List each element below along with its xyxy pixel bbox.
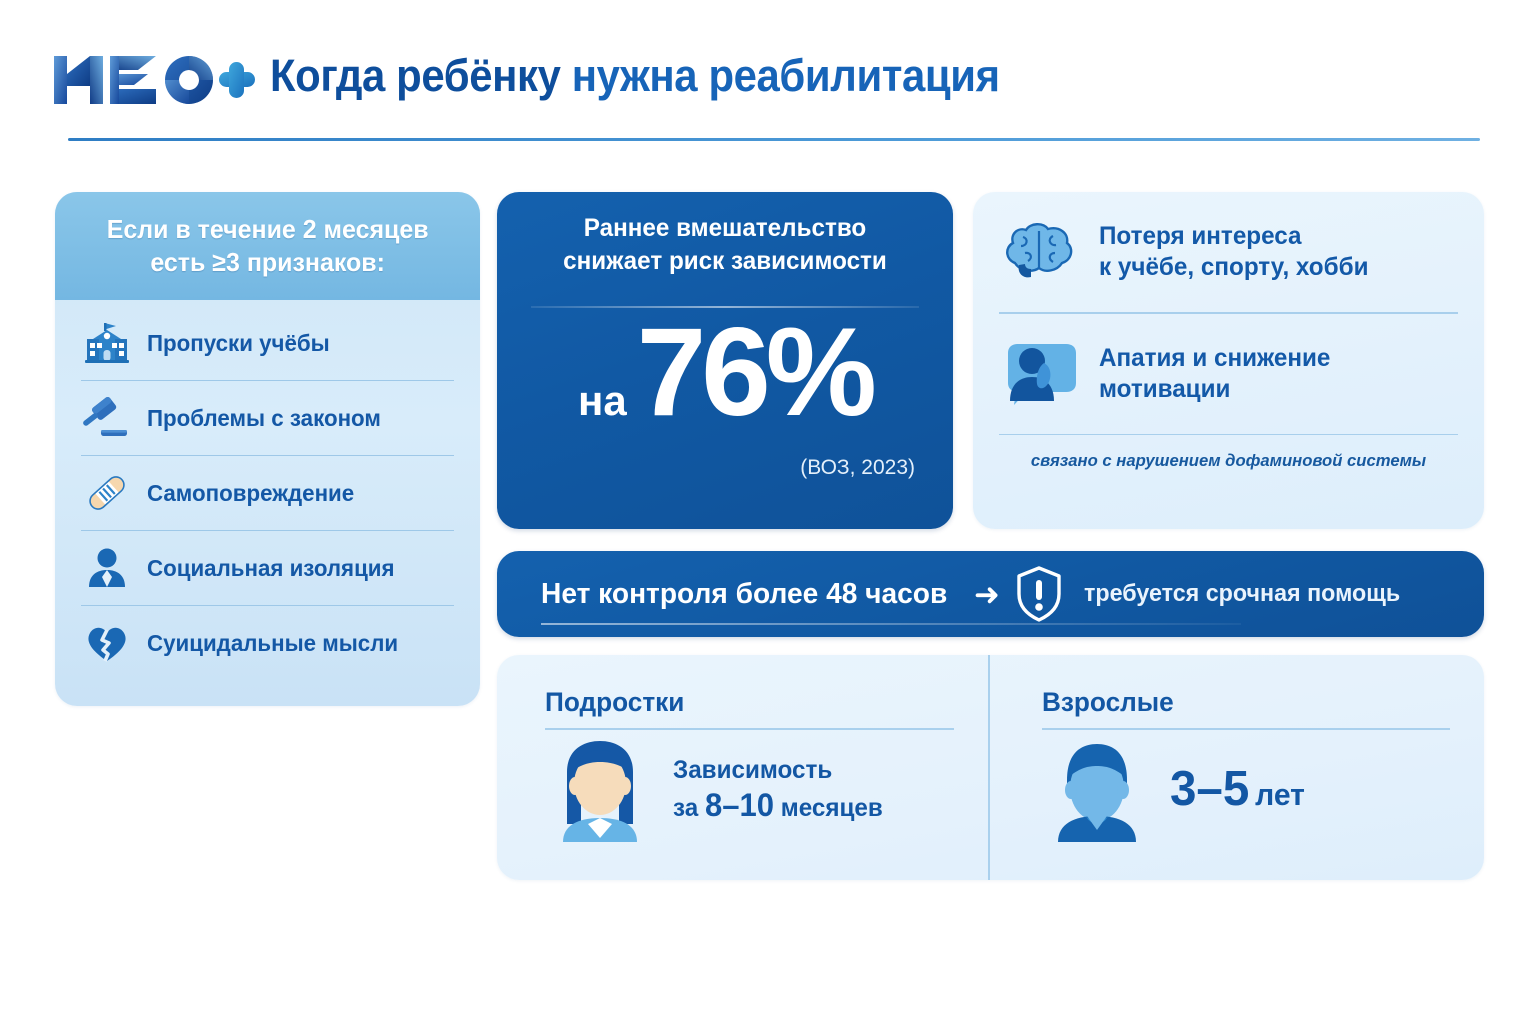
timeline-adults-value: 3–5 bbox=[1170, 762, 1249, 816]
list-item-label: Самоповреждение bbox=[147, 480, 354, 507]
page-title-bold: Когда ребёнку bbox=[270, 50, 560, 101]
stat-heading-line2: снижает риск зависимости bbox=[504, 245, 946, 278]
list-item[interactable]: Суицидальные мысли bbox=[81, 606, 454, 680]
apathy-panel: Потеря интереса к учёбе, спорту, хобби А… bbox=[973, 192, 1484, 529]
arrow-right-icon: ➜ bbox=[974, 579, 1000, 610]
timeline-adults-column: Взрослые 3–5лет bbox=[988, 655, 1485, 880]
list-item[interactable]: Самоповреждение bbox=[81, 456, 454, 531]
apathy-row-line2: к учёбе, спорту, хобби bbox=[1099, 252, 1368, 283]
list-item-text: Апатия и снижение мотивации bbox=[1099, 343, 1330, 405]
timeline-teens-prefix: за bbox=[673, 794, 698, 822]
signs-heading-line2: есть ≥3 признаков: bbox=[107, 246, 429, 279]
list-item-text: Потеря интереса к учёбе, спорту, хобби bbox=[1099, 221, 1368, 283]
teen-girl-avatar bbox=[545, 738, 655, 842]
signs-list: Пропуски учёбы Проблемы с законом bbox=[55, 300, 480, 690]
alert-bar: Нет контроля более 48 часов ➜ требуется … bbox=[497, 551, 1484, 637]
brain-icon bbox=[999, 216, 1081, 288]
person-icon bbox=[81, 545, 133, 591]
timeline-teens-unit: месяцев bbox=[781, 794, 883, 822]
alert-tail-text: требуется срочная помощь bbox=[1084, 580, 1400, 608]
timeline-adults-title: Взрослые bbox=[1042, 687, 1438, 718]
gavel-icon bbox=[81, 395, 133, 441]
broken-heart-icon bbox=[81, 620, 133, 666]
stat-panel: Раннее вмешательство снижает риск зависи… bbox=[497, 192, 953, 529]
list-item-label: Суицидальные мысли bbox=[147, 630, 398, 657]
timeline-panel: Подростки Зависимость bbox=[497, 655, 1484, 880]
neo-plus-logo bbox=[52, 52, 257, 108]
apathy-person-icon bbox=[999, 338, 1081, 410]
list-item[interactable]: Социальная изоляция bbox=[81, 531, 454, 606]
list-item[interactable]: Проблемы с законом bbox=[81, 381, 454, 456]
page-title-rest: нужна реабилитация bbox=[572, 50, 1000, 101]
timeline-teens-title: Подростки bbox=[545, 687, 941, 718]
list-item[interactable]: Апатия и снижение мотивации bbox=[973, 314, 1484, 434]
alert-main-text: Нет контроля более 48 часов bbox=[541, 578, 947, 611]
infographic-root: Когда ребёнку нужна реабилитация Если в … bbox=[0, 0, 1536, 1024]
list-item[interactable]: Потеря интереса к учёбе, спорту, хобби bbox=[973, 192, 1484, 312]
timeline-teens-text: Зависимость за 8–10 месяцев bbox=[673, 754, 883, 826]
page-title: Когда ребёнку нужна реабилитация bbox=[270, 46, 1000, 106]
list-item-label: Социальная изоляция bbox=[147, 555, 395, 582]
timeline-adults-value-group: 3–5лет bbox=[1170, 765, 1305, 814]
stat-value-group: на 76% bbox=[497, 310, 953, 435]
timeline-adults-divider bbox=[1042, 728, 1451, 730]
school-building-icon bbox=[81, 320, 133, 366]
bandage-icon bbox=[81, 470, 133, 516]
signs-panel-header: Если в течение 2 месяцев есть ≥3 признак… bbox=[55, 192, 480, 300]
timeline-adults-unit: лет bbox=[1255, 777, 1305, 812]
timeline-teens-column: Подростки Зависимость bbox=[497, 655, 988, 880]
signs-heading-line1: Если в течение 2 месяцев bbox=[107, 213, 429, 246]
timeline-teens-divider bbox=[545, 728, 954, 730]
signs-panel: Если в течение 2 месяцев есть ≥3 признак… bbox=[55, 192, 480, 706]
header: Когда ребёнку нужна реабилитация bbox=[52, 46, 1484, 146]
list-item[interactable]: Пропуски учёбы bbox=[81, 306, 454, 381]
shield-exclamation-icon bbox=[1012, 564, 1066, 624]
adult-man-avatar bbox=[1042, 738, 1152, 842]
apathy-row-line1: Потеря интереса bbox=[1099, 221, 1368, 252]
timeline-teens-line1: Зависимость bbox=[673, 754, 883, 787]
stat-source: (ВОЗ, 2023) bbox=[800, 456, 915, 480]
stat-heading: Раннее вмешательство снижает риск зависи… bbox=[504, 212, 946, 278]
alert-underline bbox=[541, 623, 1241, 625]
stat-prefix: на bbox=[578, 380, 627, 422]
list-item-label: Проблемы с законом bbox=[147, 405, 381, 432]
stat-value: 76% bbox=[637, 310, 872, 435]
list-item-label: Пропуски учёбы bbox=[147, 330, 330, 357]
apathy-row-line1: Апатия и снижение bbox=[1099, 343, 1330, 374]
header-divider bbox=[68, 138, 1480, 141]
apathy-note: связано с нарушением дофаминовой системы bbox=[978, 435, 1479, 471]
timeline-teens-value: 8–10 bbox=[705, 787, 774, 823]
apathy-row-line2: мотивации bbox=[1099, 374, 1330, 405]
stat-heading-line1: Раннее вмешательство bbox=[504, 212, 946, 245]
